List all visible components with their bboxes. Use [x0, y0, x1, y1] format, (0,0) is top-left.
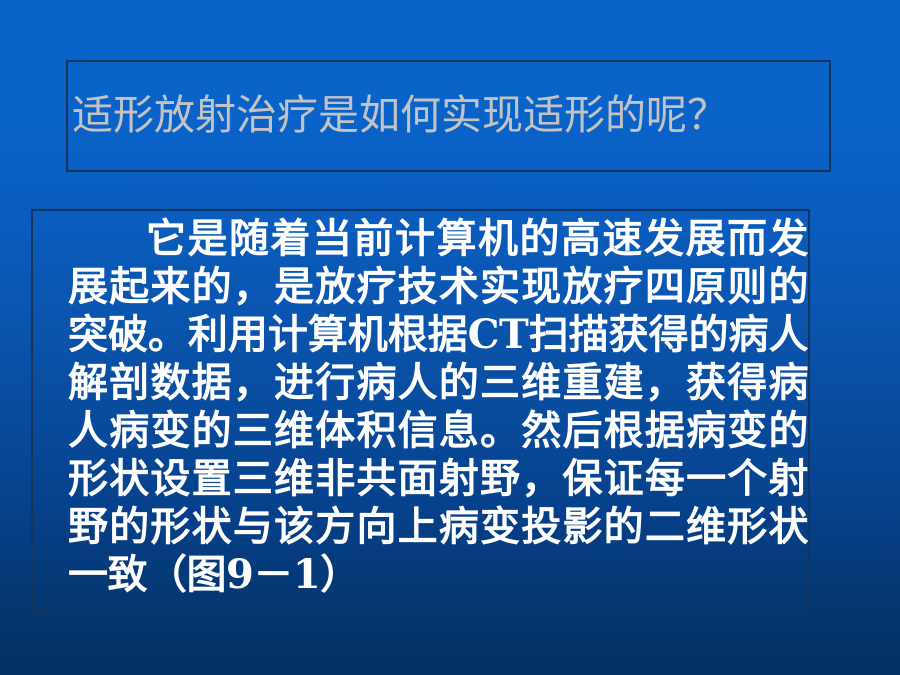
title-placeholder-box: 适形放射治疗是如何实现适形的呢？	[66, 60, 831, 172]
presentation-slide: 适形放射治疗是如何实现适形的呢？ 它是随着当前计算机的高速发展而发展起来的，是放…	[0, 0, 900, 675]
body-paragraph: 它是随着当前计算机的高速发展而发展起来的，是放疗技术实现放疗四原则的突破。利用计…	[68, 215, 808, 598]
body-placeholder-box: 它是随着当前计算机的高速发展而发展起来的，是放疗技术实现放疗四原则的突破。利用计…	[31, 209, 810, 613]
slide-title: 适形放射治疗是如何实现适形的呢？	[68, 94, 728, 137]
slide-body-text: 它是随着当前计算机的高速发展而发展起来的，是放疗技术实现放疗四原则的突破。利用计…	[68, 215, 808, 599]
